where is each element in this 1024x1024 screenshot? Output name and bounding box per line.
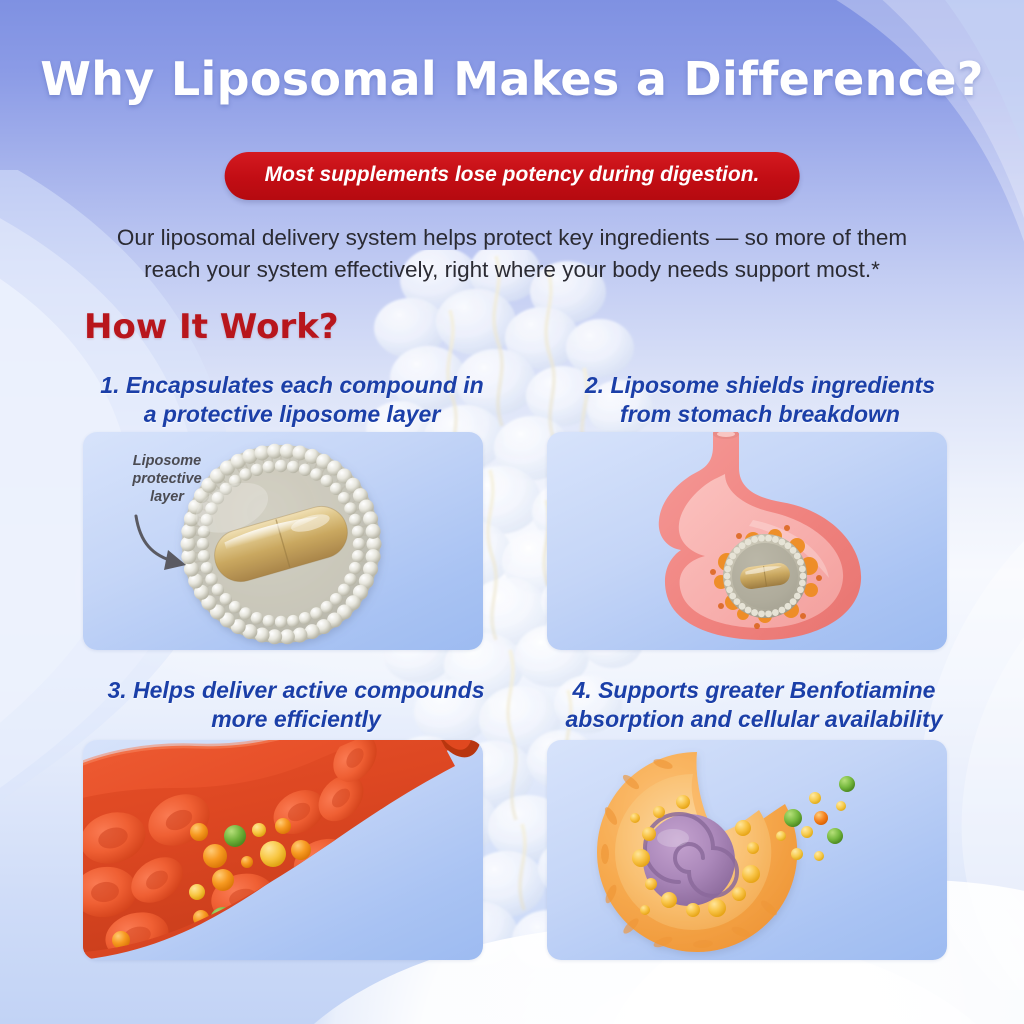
step-2-caption-line-2: from stomach breakdown — [540, 400, 980, 429]
liposome-annotation-label: Liposome protective layer — [108, 452, 226, 506]
step-3-panel — [83, 740, 483, 960]
step-4-panel — [547, 740, 947, 960]
step-2-caption: 2. Liposome shields ingredients from sto… — [540, 371, 980, 429]
blood-vessel-with-nutrients-illustration — [83, 740, 483, 960]
annotation-line-2: protective — [108, 470, 226, 488]
step-3-caption-line-1: 3. Helps deliver active compounds — [72, 676, 520, 705]
lede-line-1: Our liposomal delivery system helps prot… — [42, 222, 982, 254]
lede-line-2: reach your system effectively, right whe… — [42, 254, 982, 286]
stomach-with-liposome-illustration — [547, 432, 947, 650]
section-heading: How It Work? — [84, 307, 339, 347]
step-3-caption-line-2: more efficiently — [72, 705, 520, 734]
step-1-caption-line-2: a protective liposome layer — [72, 400, 512, 429]
page-title: Why Liposomal Makes a Difference? — [0, 52, 1024, 106]
annotation-line-3: layer — [108, 488, 226, 506]
step-1-caption: 1. Encapsulates each compound in a prote… — [72, 371, 512, 429]
infographic-canvas: Why Liposomal Makes a Difference? Most s… — [0, 0, 1024, 1024]
step-4-caption-line-2: absorption and cellular availability — [528, 705, 980, 734]
step-2-panel — [547, 432, 947, 650]
step-1-caption-line-1: 1. Encapsulates each compound in — [72, 371, 512, 400]
step-3-caption: 3. Helps deliver active compounds more e… — [72, 676, 520, 734]
annotation-line-1: Liposome — [108, 452, 226, 470]
lede-paragraph: Our liposomal delivery system helps prot… — [42, 222, 982, 286]
step-2-caption-line-1: 2. Liposome shields ingredients — [540, 371, 980, 400]
step-4-caption: 4. Supports greater Benfotiamine absorpt… — [528, 676, 980, 734]
step-4-caption-line-1: 4. Supports greater Benfotiamine — [528, 676, 980, 705]
cell-absorbing-nutrients-illustration — [547, 740, 947, 960]
curved-arrow-icon — [122, 512, 202, 582]
banner-callout: Most supplements lose potency during dig… — [225, 152, 800, 200]
